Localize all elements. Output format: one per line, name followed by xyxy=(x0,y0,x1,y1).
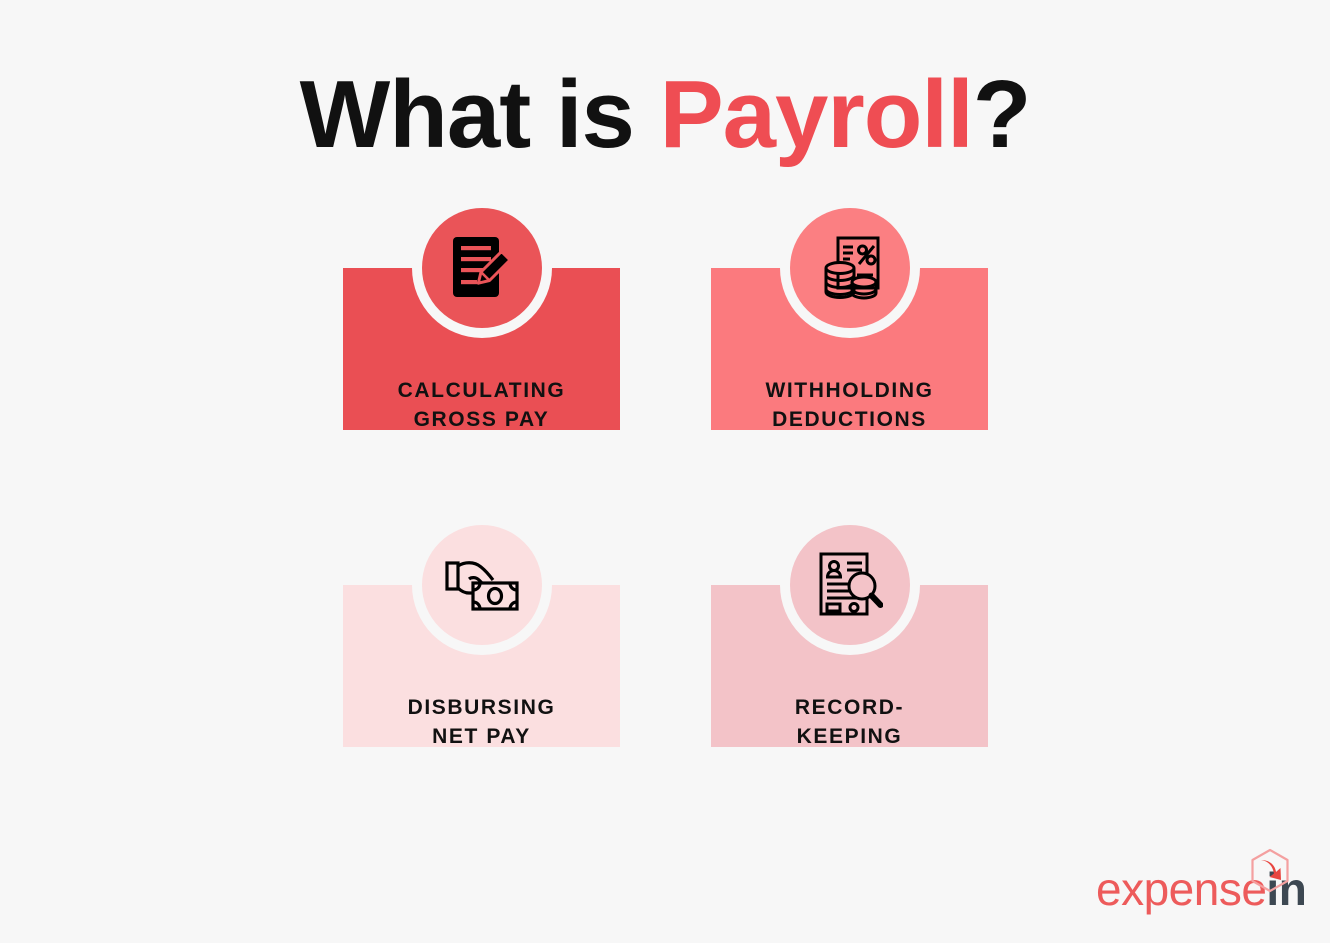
card-label-line-1: CALCULATING xyxy=(343,376,620,405)
document-person-magnifier-icon xyxy=(817,551,883,619)
card-label: DISBURSING NET PAY xyxy=(343,693,620,751)
brand-logo-word-expense: expense xyxy=(1096,866,1266,912)
card-label: RECORD- KEEPING xyxy=(711,693,988,751)
card-label-line-2: GROSS PAY xyxy=(343,405,620,434)
document-pencil-icon xyxy=(451,235,513,301)
card-disbursing-net-pay[interactable]: DISBURSING NET PAY xyxy=(343,515,620,747)
card-badge-disc xyxy=(422,208,542,328)
card-label-line-2: DEDUCTIONS xyxy=(711,405,988,434)
card-withholding-deductions[interactable]: WITHHOLDING DEDUCTIONS xyxy=(711,198,988,430)
page-title: What is Payroll? xyxy=(0,60,1330,170)
card-badge-disc xyxy=(422,525,542,645)
card-calculating-gross-pay[interactable]: CALCULATING GROSS PAY xyxy=(343,198,620,430)
card-record-keeping[interactable]: RECORD- KEEPING xyxy=(711,515,988,747)
hand-holding-banknote-icon xyxy=(445,557,519,613)
card-badge xyxy=(780,515,920,655)
card-label-line-2: KEEPING xyxy=(711,722,988,751)
brand-logo[interactable]: expensein xyxy=(1096,866,1306,918)
hexagon-arrow-icon xyxy=(1248,848,1292,894)
card-badge xyxy=(780,198,920,338)
card-badge-disc xyxy=(790,525,910,645)
card-label-line-1: DISBURSING xyxy=(343,693,620,722)
card-label-line-1: RECORD- xyxy=(711,693,988,722)
card-label: CALCULATING GROSS PAY xyxy=(343,376,620,434)
percent-document-coins-icon xyxy=(818,234,882,302)
page-title-part-1: What is xyxy=(300,61,660,168)
card-label-line-2: NET PAY xyxy=(343,722,620,751)
card-grid: CALCULATING GROSS PAY xyxy=(343,198,988,820)
card-badge-disc xyxy=(790,208,910,328)
page-title-part-3: ? xyxy=(973,61,1031,168)
page-title-accent: Payroll xyxy=(660,61,973,168)
card-badge xyxy=(412,198,552,338)
card-label: WITHHOLDING DEDUCTIONS xyxy=(711,376,988,434)
card-label-line-1: WITHHOLDING xyxy=(711,376,988,405)
card-badge xyxy=(412,515,552,655)
